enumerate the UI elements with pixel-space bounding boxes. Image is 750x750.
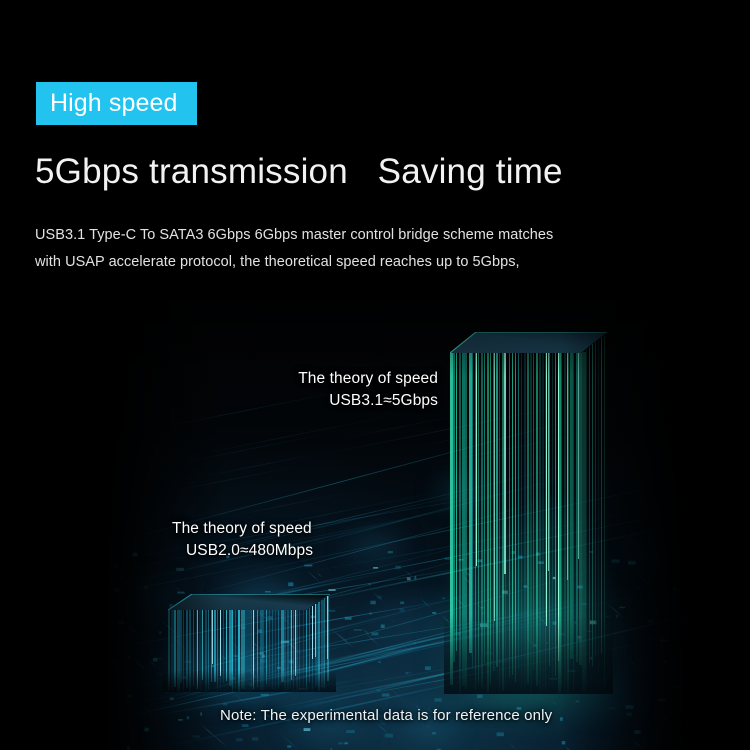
description-line-2: with USAP accelerate protocol, the theor… [35,249,595,276]
description-line-1: USB3.1 Type-C To SATA3 6Gbps 6Gbps maste… [35,222,595,249]
bar-stripes [450,332,607,694]
page-title: 5Gbps transmission Saving time [35,152,563,192]
promo-page: High speed 5Gbps transmission Saving tim… [0,0,750,750]
usb31-annotation-line-2: USB3.1≈5Gbps [208,390,438,412]
bar-usb20 [168,594,330,692]
usb31-annotation-line-1: The theory of speed [208,368,438,390]
speed-comparison-chart: The theory of speed USB3.1≈5Gbps The the… [0,282,750,750]
chart-note: Note: The experimental data is for refer… [220,707,552,724]
high-speed-badge-label: High speed [36,89,177,118]
usb20-annotation-line-1: The theory of speed [172,518,402,540]
bar-usb31 [450,332,607,694]
high-speed-badge: High speed [36,82,197,125]
bar-stripes [168,594,330,692]
usb31-annotation: The theory of speed USB3.1≈5Gbps [208,368,438,412]
usb20-annotation-line-2: USB2.0≈480Mbps [172,540,402,562]
usb20-annotation: The theory of speed USB2.0≈480Mbps [172,518,402,562]
